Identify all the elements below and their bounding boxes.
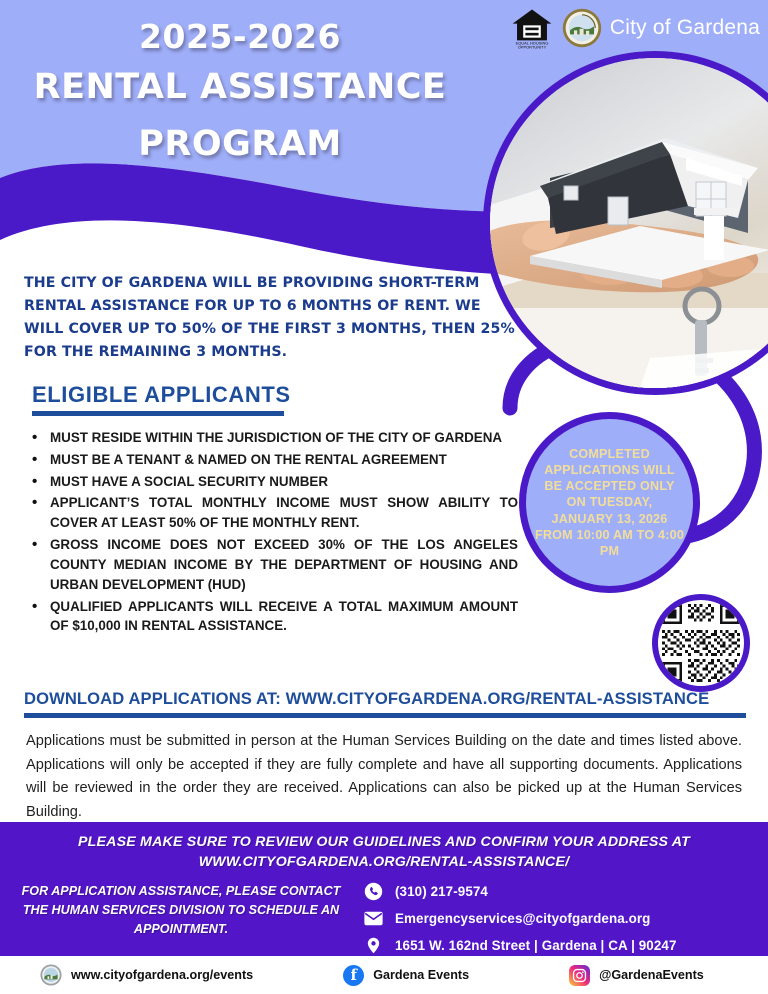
footer-assistance-text: FOR APPLICATION ASSISTANCE, PLEASE CONTA… <box>0 882 352 963</box>
title-year: 2025-2026 <box>0 18 480 56</box>
social-bar: www.cityofgardena.org/events f Gardena E… <box>0 956 768 994</box>
flyer-page: 2025-2026 RENTAL ASSISTANCE PROGRAM EQUA… <box>0 0 768 994</box>
instagram-icon <box>569 965 590 986</box>
street-address: 1651 W. 162nd Street | Gardena | CA | 90… <box>395 938 677 953</box>
flyer-title-block: 2025-2026 RENTAL ASSISTANCE PROGRAM <box>0 18 480 169</box>
list-item: APPLICANT’S TOTAL MONTHLY INCOME MUST SH… <box>28 493 518 533</box>
qr-code-icon <box>659 601 743 685</box>
intro-paragraph: THE CITY OF GARDENA WILL BE PROVIDING SH… <box>24 272 524 364</box>
city-name-label: City of Gardena <box>610 16 760 40</box>
list-item: MUST HAVE A SOCIAL SECURITY NUMBER <box>28 472 518 492</box>
instagram-label: @GardenaEvents <box>599 968 704 982</box>
facebook-icon: f <box>343 965 364 986</box>
phone-icon <box>364 882 383 901</box>
city-seal-icon <box>40 964 62 986</box>
phone-number: (310) 217-9574 <box>395 884 488 899</box>
location-pin-icon <box>364 936 383 955</box>
list-item: GROSS INCOME DOES NOT EXCEED 30% OF THE … <box>28 535 518 594</box>
header-logos: EQUAL HOUSING OPPORTUNITY City of Garden… <box>510 6 760 50</box>
list-item: MUST RESIDE WITHIN THE JURISDICTION OF T… <box>28 428 518 448</box>
eligible-applicants-heading: ELIGIBLE APPLICANTS <box>32 382 291 408</box>
deadline-callout-text: COMPLETED APPLICATIONS WILL BE ACCEPTED … <box>526 446 693 559</box>
contact-phone-row[interactable]: (310) 217-9574 <box>364 882 768 901</box>
eligible-applicants-underline <box>32 411 284 416</box>
download-underline <box>24 713 746 718</box>
envelope-icon <box>364 909 383 928</box>
city-of-gardena-seal-icon <box>562 8 602 48</box>
house-in-hand-photo <box>490 58 768 388</box>
footer-notice-line-2[interactable]: WWW.CITYOFGARDENA.ORG/RENTAL-ASSISTANCE/ <box>0 852 768 872</box>
qr-code[interactable] <box>652 594 750 692</box>
title-line-2: PROGRAM <box>0 119 480 170</box>
deadline-callout-circle: COMPLETED APPLICATIONS WILL BE ACCEPTED … <box>519 412 700 593</box>
instructions-paragraph: Applications must be submitted in person… <box>26 730 742 825</box>
instagram-link[interactable]: @GardenaEvents <box>569 965 704 986</box>
facebook-link[interactable]: f Gardena Events <box>343 965 469 986</box>
website-label: www.cityofgardena.org/events <box>71 968 253 982</box>
footer-panel: PLEASE MAKE SURE TO REVIEW OUR GUIDELINE… <box>0 822 768 956</box>
website-link[interactable]: www.cityofgardena.org/events <box>40 964 253 986</box>
eligible-applicants-list: MUST RESIDE WITHIN THE JURISDICTION OF T… <box>28 428 518 638</box>
list-item: QUALIFIED APPLICANTS WILL RECEIVE A TOTA… <box>28 597 518 637</box>
download-applications-link[interactable]: DOWNLOAD APPLICATIONS AT: WWW.CITYOFGARD… <box>24 689 750 709</box>
svg-text:OPPORTUNITY: OPPORTUNITY <box>518 45 547 50</box>
facebook-label: Gardena Events <box>373 968 469 982</box>
footer-notice-line-1: PLEASE MAKE SURE TO REVIEW OUR GUIDELINE… <box>0 832 768 852</box>
footer-contact-list: (310) 217-9574 Emergencyservices@cityofg… <box>352 882 768 963</box>
footer-notice: PLEASE MAKE SURE TO REVIEW OUR GUIDELINE… <box>0 822 768 872</box>
email-address: Emergencyservices@cityofgardena.org <box>395 911 650 926</box>
house-model-illustration <box>490 58 768 388</box>
contact-email-row[interactable]: Emergencyservices@cityofgardena.org <box>364 909 768 928</box>
title-line-1: RENTAL ASSISTANCE <box>0 62 480 113</box>
contact-address-row[interactable]: 1651 W. 162nd Street | Gardena | CA | 90… <box>364 936 768 955</box>
equal-housing-opportunity-icon: EQUAL HOUSING OPPORTUNITY <box>510 6 554 50</box>
list-item: MUST BE A TENANT & NAMED ON THE RENTAL A… <box>28 450 518 470</box>
